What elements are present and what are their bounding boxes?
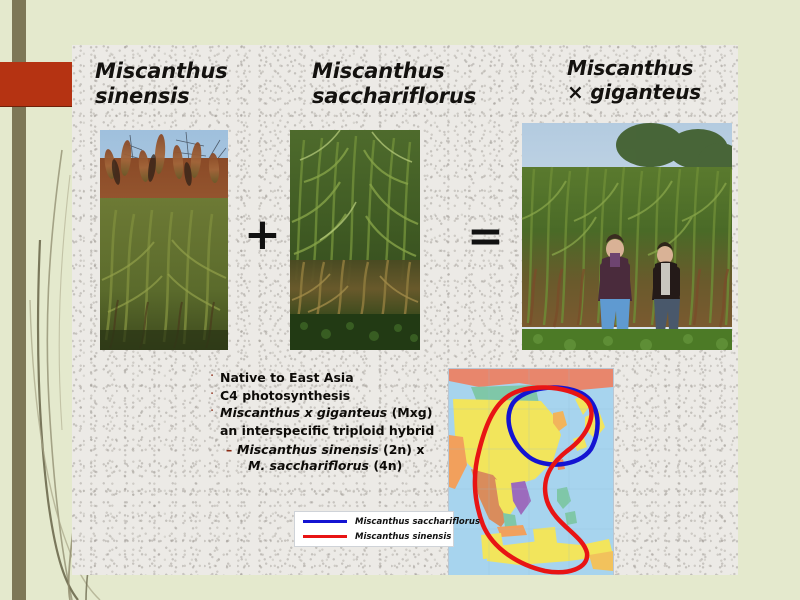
equals-operator: = xyxy=(467,215,504,259)
legend-label-sinensis: Miscanthus sinensis xyxy=(355,532,451,542)
map-legend: Miscanthus sacchariflorus Miscanthus sin… xyxy=(294,511,454,547)
species-title-sinensis-line2: sinensis xyxy=(95,84,189,108)
legend-line-red xyxy=(303,535,347,538)
photo-miscanthus-giganteus xyxy=(522,123,732,350)
bullet-item-c4: · C4 photosynthesis xyxy=(210,388,440,405)
bullet-text-hybrid-line2: an interspecific triploid hybrid xyxy=(220,423,440,440)
species-title-giganteus: Miscanthus × giganteus xyxy=(567,57,738,104)
legend-row-sinensis: Miscanthus sinensis xyxy=(299,529,449,544)
hybrid-abbrev: (Mxg) xyxy=(392,405,433,420)
sub-bullet-dash-icon: – xyxy=(226,442,237,459)
species-title-giganteus-line2: × giganteus xyxy=(567,80,701,104)
bullet-text-native: Native to East Asia xyxy=(220,370,440,387)
legend-row-sacchariflorus: Miscanthus sacchariflorus xyxy=(299,514,449,529)
species-title-giganteus-line1: Miscanthus xyxy=(567,56,693,80)
bullet-text-c4: C4 photosynthesis xyxy=(220,388,440,405)
photo-miscanthus-sacchariflorus xyxy=(290,130,420,350)
legend-line-blue xyxy=(303,520,347,523)
red-banner-accent xyxy=(0,62,76,107)
bullet-dot-icon: · xyxy=(210,370,220,384)
species-title-sacchariflorus-line1: Miscanthus xyxy=(312,59,445,83)
species-title-sinensis-line1: Miscanthus xyxy=(95,59,228,83)
parent1-species-name: Miscanthus sinensis xyxy=(237,442,379,457)
parent1-ploidy: (2n) x xyxy=(383,442,424,457)
bullet-item-native: · Native to East Asia xyxy=(210,370,440,387)
distribution-map xyxy=(448,368,614,575)
parent2-ploidy: (4n) xyxy=(373,458,402,473)
legend-label-sacchariflorus: Miscanthus sacchariflorus xyxy=(355,517,480,527)
plus-operator: + xyxy=(244,213,281,257)
bullet-dot-icon: · xyxy=(210,388,220,402)
hybrid-species-name: Miscanthus x giganteus xyxy=(220,405,387,420)
bullet-text-hybrid: Miscanthus x giganteus (Mxg) xyxy=(220,405,440,422)
species-title-sacchariflorus-line2: sacchariflorus xyxy=(312,84,476,108)
parent2-species-name: M. sacchariflorus xyxy=(248,458,369,473)
species-title-sacchariflorus: Miscanthus sacchariflorus xyxy=(312,59,527,109)
photo-miscanthus-sinensis xyxy=(100,130,228,350)
sub-bullet-parent1: – Miscanthus sinensis (2n) x xyxy=(226,442,440,459)
bullet-item-hybrid: · Miscanthus x giganteus (Mxg) xyxy=(210,405,440,422)
bullet-list: · Native to East Asia · C4 photosynthesi… xyxy=(210,370,440,475)
sub-bullet-parent2-text: M. sacchariflorus (4n) xyxy=(248,458,440,475)
species-title-sinensis: Miscanthus sinensis xyxy=(95,59,270,109)
bullet-dot-icon: · xyxy=(210,405,220,419)
slide-canvas: Miscanthus sinensis Miscanthus saccharif… xyxy=(0,0,800,600)
content-panel: Miscanthus sinensis Miscanthus saccharif… xyxy=(72,45,738,575)
sub-bullet-parent1-text: Miscanthus sinensis (2n) x xyxy=(237,442,440,459)
